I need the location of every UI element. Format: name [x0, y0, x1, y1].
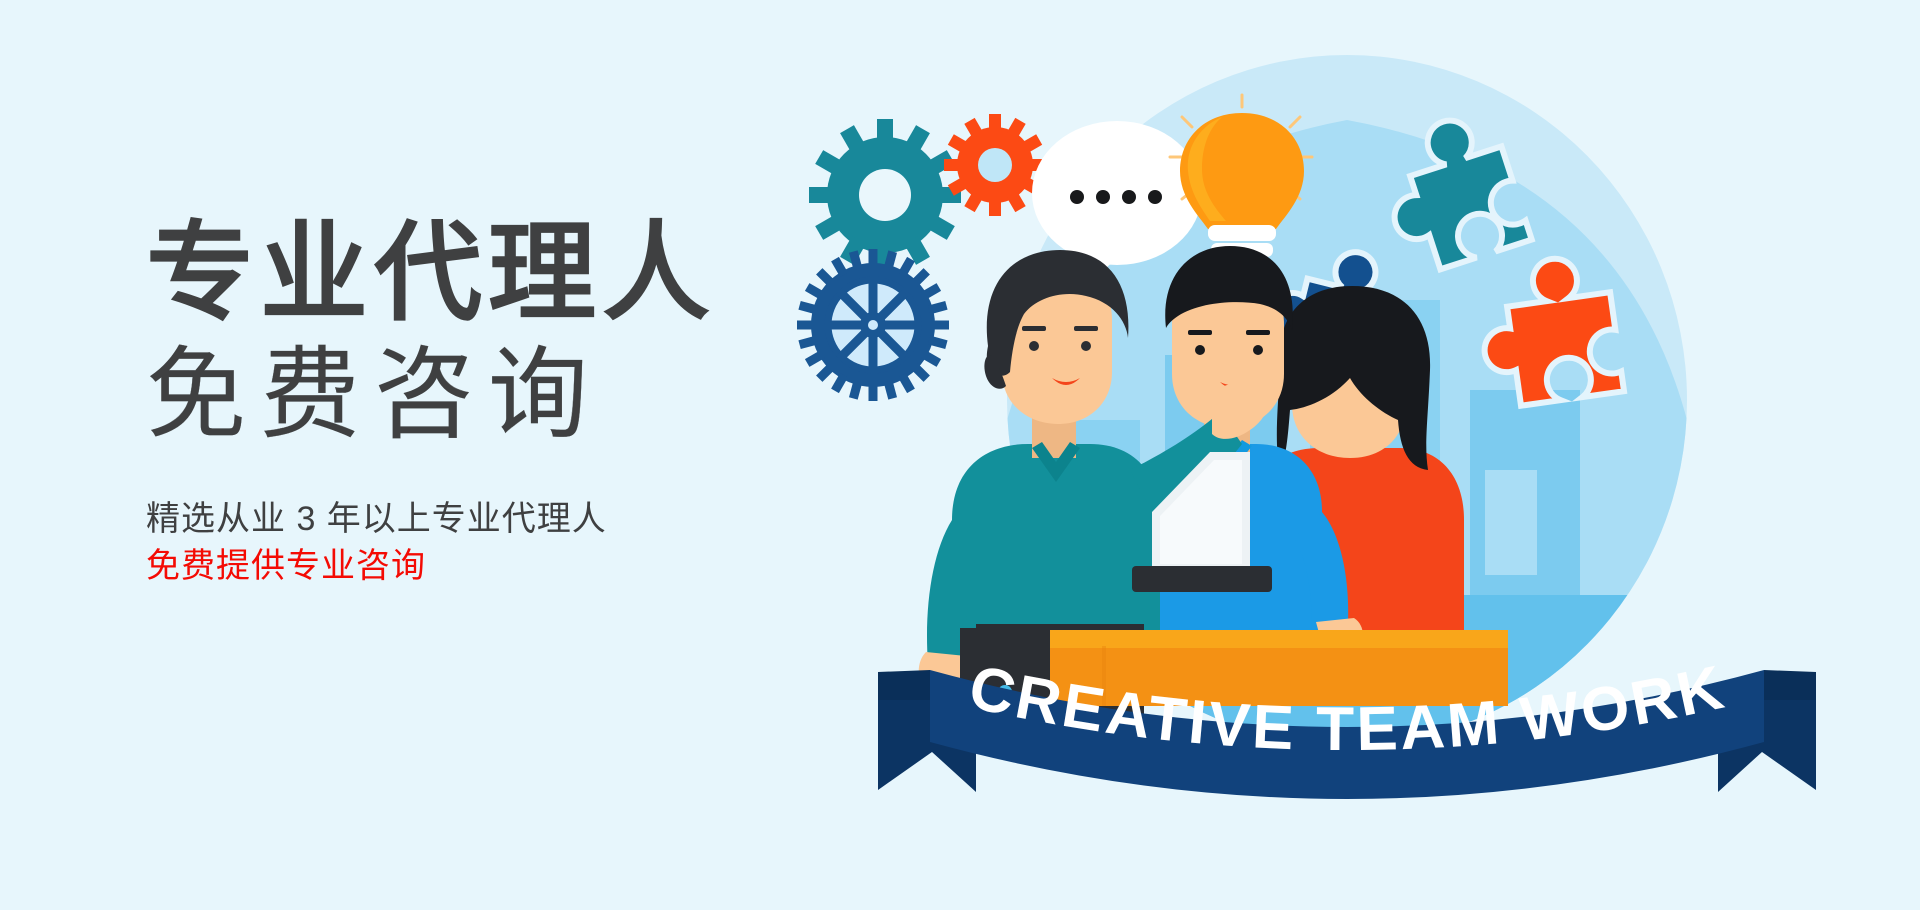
gear-navy-icon: [797, 249, 949, 401]
hero-copy: 专业代理人 免费咨询 精选从业 3 年以上专业代理人 免费提供专业咨询: [146, 214, 866, 590]
subtitle-line-2: 免费提供专业咨询: [146, 543, 866, 590]
headline-primary: 专业代理人: [146, 214, 866, 332]
creative-team-work-illustration: CREATIVE TEAM WORK: [780, 0, 1920, 910]
gear-teal-icon: [809, 119, 961, 271]
subtitle-line-1: 精选从业 3 年以上专业代理人: [146, 496, 866, 543]
headline-secondary: 免费咨询: [146, 336, 866, 454]
hero-banner: 专业代理人 免费咨询 精选从业 3 年以上专业代理人 免费提供专业咨询: [0, 0, 1920, 910]
subtitle-block: 精选从业 3 年以上专业代理人 免费提供专业咨询: [146, 496, 866, 590]
